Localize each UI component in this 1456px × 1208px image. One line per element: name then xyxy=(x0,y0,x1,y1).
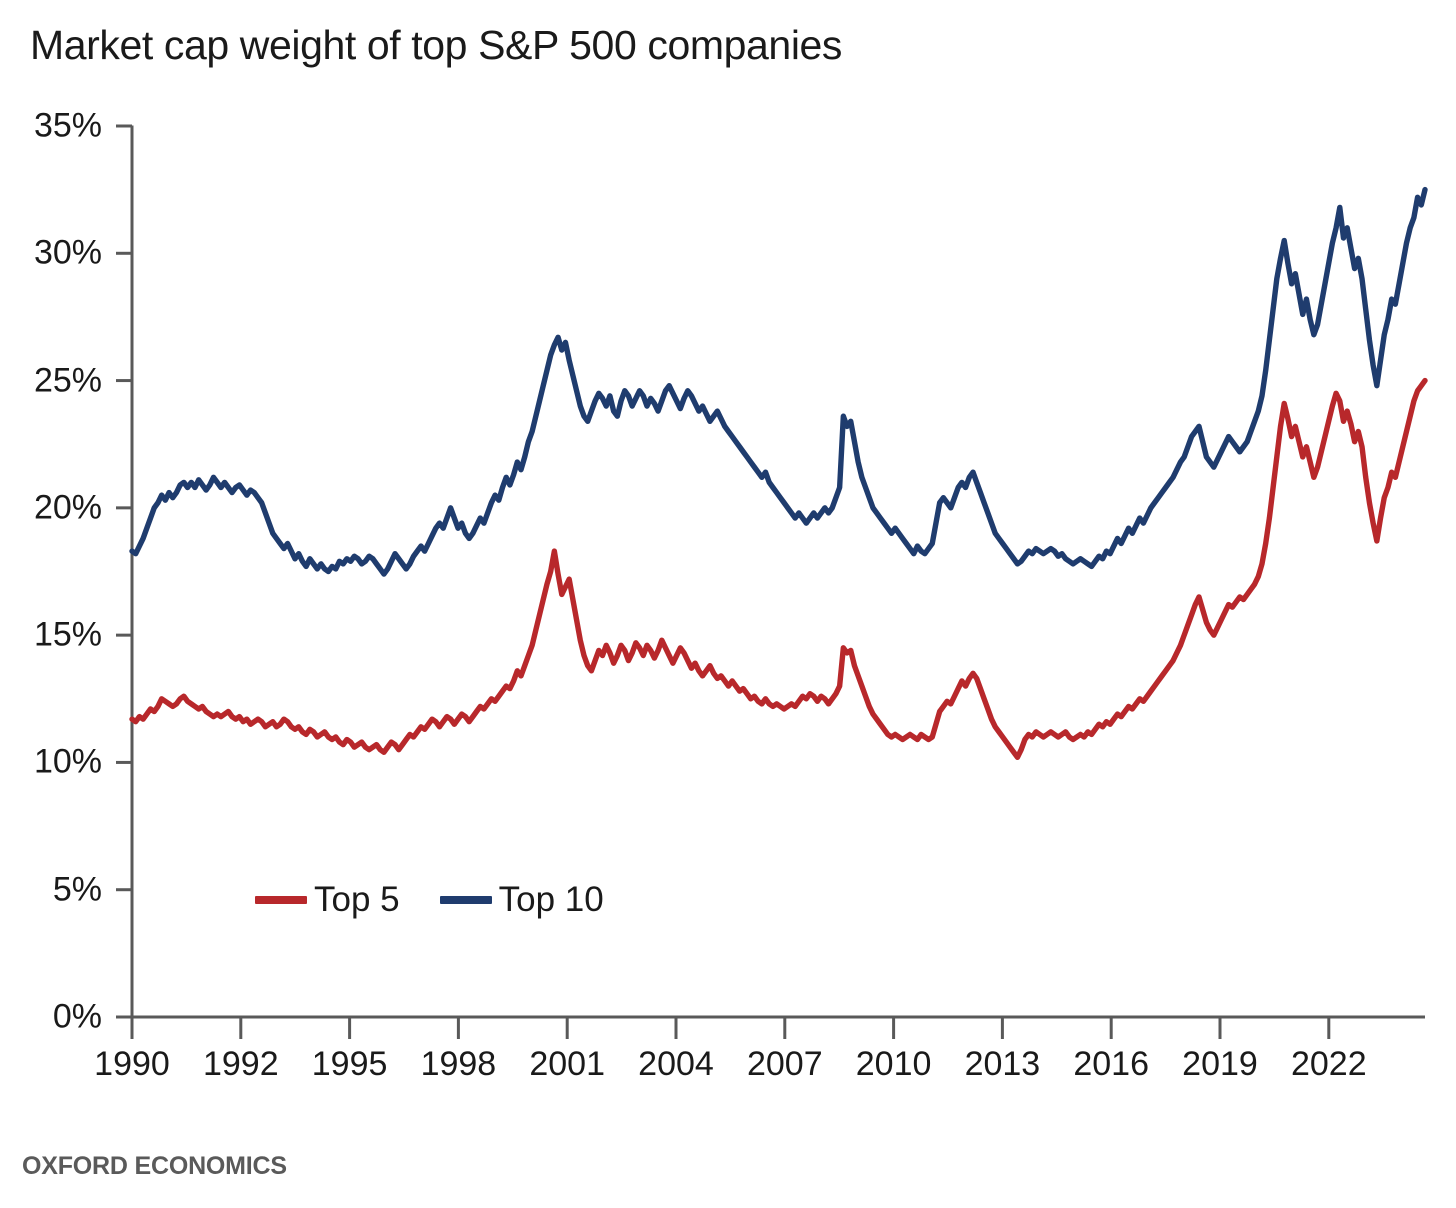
series-line-top-10 xyxy=(132,190,1425,574)
legend-swatch-icon xyxy=(440,896,492,904)
x-tick-label: 2022 xyxy=(1264,1045,1394,1084)
y-tick-label: 5% xyxy=(0,870,102,909)
legend-label: Top 5 xyxy=(314,880,400,920)
legend-item-top-5[interactable]: Top 5 xyxy=(255,880,400,920)
y-tick-label: 30% xyxy=(0,234,102,273)
y-tick-label: 20% xyxy=(0,488,102,527)
y-tick-label: 10% xyxy=(0,743,102,782)
chart-plot-area xyxy=(0,0,1456,1208)
chart-legend: Top 5Top 10 xyxy=(255,880,604,920)
chart-figure: Market cap weight of top S&P 500 compani… xyxy=(0,0,1456,1208)
legend-label: Top 10 xyxy=(499,880,604,920)
y-tick-label: 25% xyxy=(0,361,102,400)
y-tick-label: 0% xyxy=(0,998,102,1037)
y-tick-label: 15% xyxy=(0,616,102,655)
legend-item-top-10[interactable]: Top 10 xyxy=(440,880,604,920)
legend-swatch-icon xyxy=(255,896,307,904)
brand-watermark: OXFORD ECONOMICS xyxy=(22,1152,287,1181)
y-tick-label: 35% xyxy=(0,107,102,146)
